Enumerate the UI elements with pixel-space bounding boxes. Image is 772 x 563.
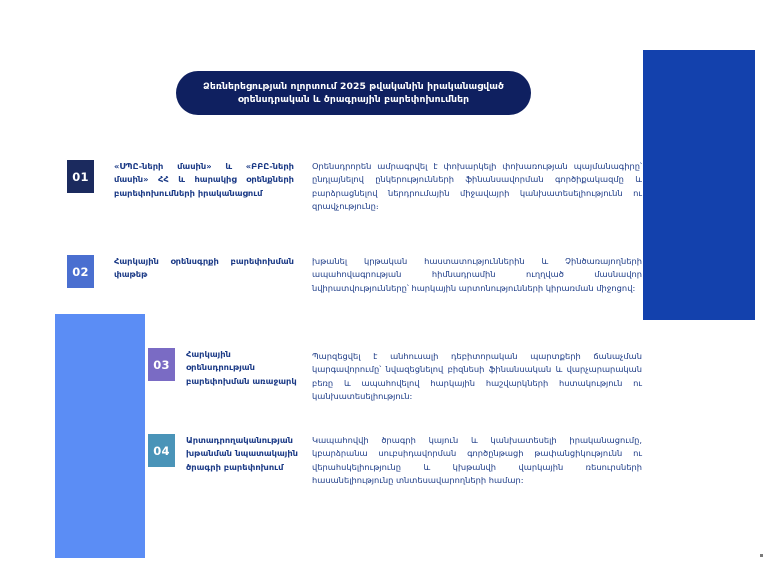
item-number-badge-01: 01 [67, 160, 94, 193]
slide-canvas: Ձեռներեցության ոլորտում 2025 թվականին իր… [0, 0, 772, 563]
slide-title-line-1: Ձեռներեցության ոլորտում 2025 թվականին իր… [203, 81, 504, 92]
item-body-04: Կապահովվի ծրագրի կայուն և կանխատեսելի իր… [312, 434, 642, 488]
list-item: 01 «ՍՊԸ-ների մասին» և «ԲԲԸ-ների մասին» Հ… [67, 160, 295, 200]
item-body-02: խթանել կրթական հաստատություններին և Չինծ… [312, 255, 642, 295]
slide-title-line-2: օրենսդրական և ծրագրային բարեփոխումներ [238, 94, 469, 105]
item-heading-02: Հարկային օրենսգրքի բարեփոխման փաթեթ [114, 255, 294, 282]
item-number-label: 03 [153, 358, 170, 372]
item-number-label: 01 [72, 170, 89, 184]
item-number-badge-02: 02 [67, 255, 94, 288]
page-marker-dot [760, 554, 763, 557]
item-number-label: 02 [72, 265, 89, 279]
item-body-01: Օրենսդրորեն ամրագրվել է փոխարկելի փոխառո… [312, 160, 642, 214]
slide-title-pill: Ձեռներեցության ոլորտում 2025 թվականին իր… [176, 71, 531, 115]
slide-title: Ձեռներեցության ոլորտում 2025 թվականին իր… [203, 80, 504, 107]
list-item: 04 Արտադրողականության խթանման նպատակային… [148, 434, 298, 474]
decorative-block-right [643, 50, 755, 320]
item-number-label: 04 [153, 444, 170, 458]
item-number-badge-04: 04 [148, 434, 175, 467]
item-heading-03: Հարկային օրենսդրության բարեփոխման առաջար… [186, 348, 298, 388]
decorative-block-left [55, 314, 145, 558]
list-item: 02 Հարկային օրենսգրքի բարեփոխման փաթեթ [67, 255, 295, 288]
item-body-03: Պարզեցվել է անհուսալի դեբիտորական պարտքե… [312, 350, 642, 404]
list-item: 03 Հարկային օրենսդրության բարեփոխման առա… [148, 348, 298, 388]
item-heading-01: «ՍՊԸ-ների մասին» և «ԲԲԸ-ների մասին» ՀՀ և… [114, 160, 294, 200]
item-heading-04: Արտադրողականության խթանման նպատակային ծր… [186, 434, 298, 474]
item-number-badge-03: 03 [148, 348, 175, 381]
